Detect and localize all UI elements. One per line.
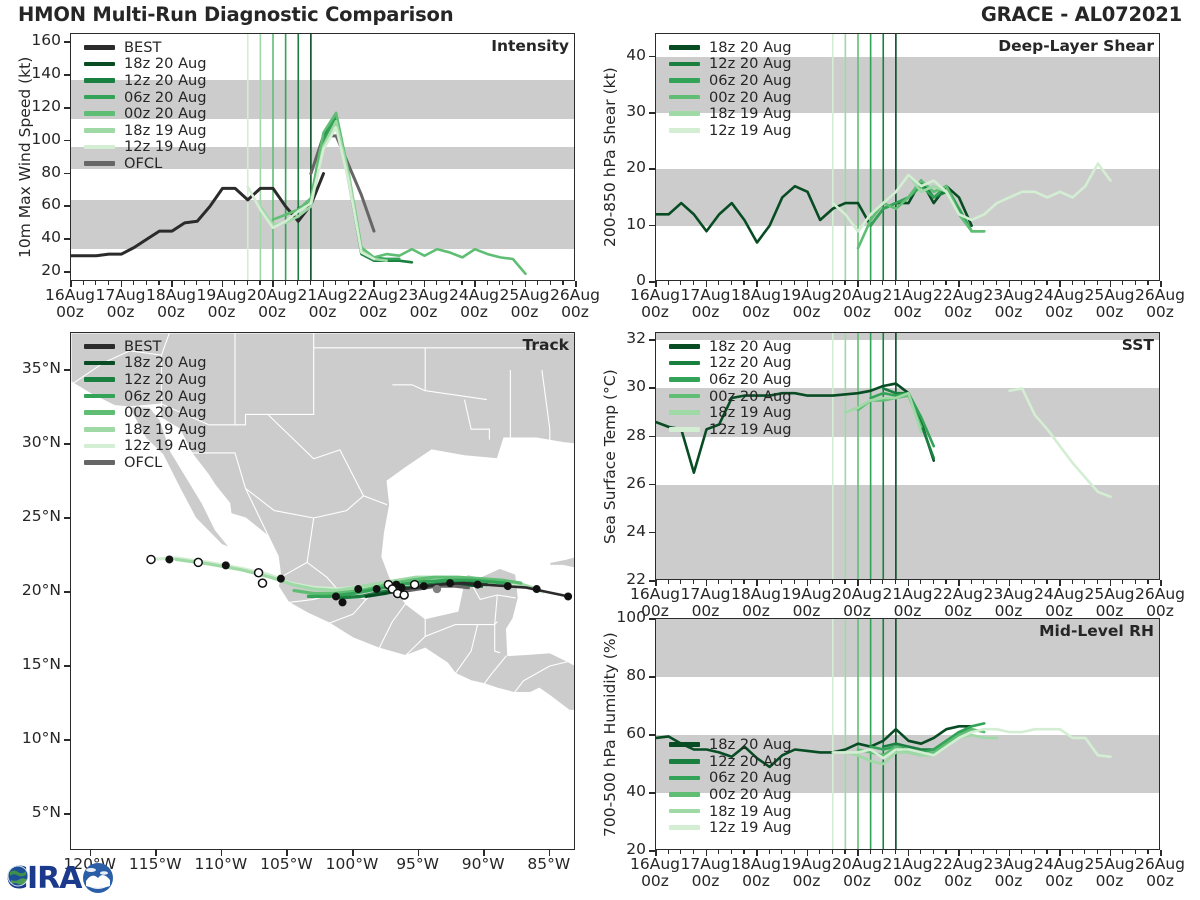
y-tick-mark: [649, 56, 655, 58]
x-tick-hour: 00z: [894, 872, 922, 890]
track-marker-open: [259, 579, 267, 587]
legend-label: BEST: [124, 39, 161, 56]
x-tick-hour: 00z: [894, 303, 922, 321]
legend-label: 00z 20 Aug: [709, 786, 792, 803]
x-tick-mark: [756, 850, 758, 856]
lat-tick-label: 5°N: [0, 803, 61, 821]
x-tick-day: 26Aug: [1135, 286, 1185, 304]
legend-label: 12z 20 Aug: [709, 354, 792, 371]
x-tick-hour: 00z: [157, 303, 185, 321]
legend-label: 18z 20 Aug: [124, 55, 207, 72]
x-tick-mark: [958, 580, 960, 586]
x-minor-tick: [731, 281, 732, 285]
y-tick-mark: [649, 618, 655, 620]
legend-color-swatch: [669, 809, 700, 814]
legend-item[interactable]: 12z 19 Aug: [669, 122, 792, 139]
track-marker-filled: [373, 585, 381, 593]
lat-tick-mark: [64, 517, 70, 519]
x-minor-tick: [895, 580, 896, 584]
x-minor-tick: [920, 281, 921, 285]
x-tick-hour: 00z: [107, 303, 135, 321]
legend-item[interactable]: 06z 20 Aug: [84, 388, 207, 405]
x-tick-mark: [272, 281, 274, 287]
x-tick-mark: [70, 281, 72, 287]
x-minor-tick: [360, 281, 361, 285]
x-minor-tick: [718, 580, 719, 584]
y-tick-mark: [649, 387, 655, 389]
x-tick-hour: 00z: [843, 303, 871, 321]
lat-tick-mark: [64, 739, 70, 741]
legend-color-swatch: [669, 410, 700, 415]
lat-tick-mark: [64, 665, 70, 667]
x-minor-tick: [743, 281, 744, 285]
x-minor-tick: [1034, 281, 1035, 285]
lon-tick-mark: [418, 850, 420, 856]
x-minor-tick: [562, 281, 563, 285]
y-tick-mark: [649, 225, 655, 227]
x-tick-mark: [575, 281, 577, 287]
x-minor-tick: [882, 850, 883, 854]
legend-color-swatch: [84, 410, 115, 415]
page-title-right: GRACE - AL072021: [981, 3, 1182, 26]
x-minor-tick: [996, 850, 997, 854]
x-minor-tick: [819, 281, 820, 285]
sst-legend: 18z 20 Aug12z 20 Aug06z 20 Aug00z 20 Aug…: [669, 338, 792, 438]
page-title-left: HMON Multi-Run Diagnostic Comparison: [18, 3, 453, 26]
legend-item[interactable]: 18z 20 Aug: [669, 736, 792, 753]
legend-item[interactable]: 12z 20 Aug: [84, 72, 207, 89]
y-tick-label: 20: [0, 261, 61, 279]
legend-label: 18z 20 Aug: [124, 354, 207, 371]
x-minor-tick: [882, 580, 883, 584]
x-tick-hour: 00z: [460, 303, 488, 321]
shear-y-axis-label: 200-850 hPa Shear (kt): [601, 67, 619, 247]
x-tick-mark: [807, 850, 809, 856]
legend-label: BEST: [124, 338, 161, 355]
x-minor-tick: [870, 580, 871, 584]
x-tick-mark: [706, 850, 708, 856]
x-minor-tick: [945, 580, 946, 584]
x-minor-tick: [971, 850, 972, 854]
x-tick-mark: [706, 281, 708, 287]
x-tick-mark: [807, 281, 809, 287]
lat-tick-mark: [64, 813, 70, 815]
x-minor-tick: [794, 580, 795, 584]
legend-label: 06z 20 Aug: [124, 388, 207, 405]
x-minor-tick: [920, 850, 921, 854]
lon-tick-mark: [483, 850, 485, 856]
track-marker-filled: [222, 561, 230, 569]
x-minor-tick: [158, 281, 159, 285]
legend-label: 06z 20 Aug: [709, 72, 792, 89]
legend-color-swatch: [84, 45, 115, 50]
legend-item[interactable]: 12z 20 Aug: [669, 56, 792, 73]
lon-tick-mark: [352, 850, 354, 856]
y-tick-mark: [649, 792, 655, 794]
x-minor-tick: [844, 850, 845, 854]
x-minor-tick: [794, 281, 795, 285]
x-tick-hour: 00z: [692, 872, 720, 890]
x-minor-tick: [386, 281, 387, 285]
panel-intensity: Intensity 20406080100120140160 16Aug00z1…: [70, 33, 575, 281]
x-tick-hour: 00z: [1096, 303, 1124, 321]
y-tick-mark: [649, 112, 655, 114]
x-minor-tick: [259, 281, 260, 285]
track-title: Track: [523, 336, 569, 354]
y-tick-mark: [64, 173, 70, 175]
x-minor-tick: [1135, 850, 1136, 854]
legend-color-swatch: [669, 45, 700, 50]
track-marker-filled: [420, 582, 428, 590]
x-minor-tick: [945, 850, 946, 854]
x-minor-tick: [769, 580, 770, 584]
legend-item[interactable]: 18z 19 Aug: [669, 105, 792, 122]
x-minor-tick: [1034, 850, 1035, 854]
legend-item[interactable]: 00z 20 Aug: [84, 404, 207, 421]
x-tick-mark: [857, 850, 859, 856]
x-tick-hour: 00z: [742, 872, 770, 890]
x-tick-label: 26Aug00z: [539, 287, 611, 322]
x-tick-hour: 00z: [944, 872, 972, 890]
x-minor-tick: [668, 281, 669, 285]
x-tick-mark: [1160, 281, 1162, 287]
legend-item[interactable]: 06z 20 Aug: [669, 371, 792, 388]
legend-item[interactable]: 00z 20 Aug: [669, 89, 792, 106]
shear-legend: 18z 20 Aug12z 20 Aug06z 20 Aug00z 20 Aug…: [669, 39, 792, 139]
y-tick-mark: [649, 532, 655, 534]
y-tick-mark: [64, 74, 70, 76]
legend-color-swatch: [669, 361, 700, 366]
x-tick-hour: 00z: [56, 303, 84, 321]
lon-tick-mark: [155, 850, 157, 856]
x-minor-tick: [550, 281, 551, 285]
track-marker-filled: [165, 555, 173, 563]
x-minor-tick: [983, 281, 984, 285]
legend-color-swatch: [84, 427, 115, 432]
legend-label: OFCL: [124, 454, 162, 471]
lon-tick-mark: [549, 850, 551, 856]
y-tick-mark: [649, 339, 655, 341]
x-tick-mark: [323, 281, 325, 287]
x-tick-mark: [908, 580, 910, 586]
x-tick-mark: [171, 281, 173, 287]
x-minor-tick: [933, 281, 934, 285]
x-tick-hour: 00z: [995, 872, 1023, 890]
legend-item[interactable]: 12z 19 Aug: [669, 819, 792, 836]
x-minor-tick: [933, 580, 934, 584]
x-minor-tick: [1034, 580, 1035, 584]
legend-color-swatch: [84, 377, 115, 382]
x-minor-tick: [83, 281, 84, 285]
x-minor-tick: [209, 281, 210, 285]
legend-label: 12z 19 Aug: [709, 819, 792, 836]
legend-item[interactable]: 00z 20 Aug: [84, 105, 207, 122]
track-legend: BEST18z 20 Aug12z 20 Aug06z 20 Aug00z 20…: [84, 338, 207, 471]
x-tick-hour: 00z: [561, 303, 589, 321]
legend-label: 18z 19 Aug: [709, 404, 792, 421]
rh-title: Mid-Level RH: [1039, 622, 1154, 640]
x-tick-hour: 00z: [641, 872, 669, 890]
x-tick-hour: 00z: [1146, 872, 1174, 890]
x-minor-tick: [680, 580, 681, 584]
legend-item[interactable]: 18z 19 Aug: [84, 421, 207, 438]
x-tick-mark: [857, 281, 859, 287]
legend-color-swatch: [84, 344, 115, 349]
x-tick-mark: [525, 281, 527, 287]
legend-color-swatch: [669, 394, 700, 399]
x-minor-tick: [718, 850, 719, 854]
legend-color-swatch: [84, 394, 115, 399]
x-minor-tick: [870, 850, 871, 854]
x-minor-tick: [895, 850, 896, 854]
legend-color-swatch: [669, 78, 700, 83]
legend-label: 18z 19 Aug: [709, 105, 792, 122]
x-tick-mark: [222, 281, 224, 287]
x-minor-tick: [1046, 281, 1047, 285]
legend-color-swatch: [84, 145, 115, 150]
x-minor-tick: [996, 580, 997, 584]
legend-label: 00z 20 Aug: [709, 388, 792, 405]
x-minor-tick: [680, 850, 681, 854]
x-tick-hour: 00z: [843, 872, 871, 890]
track-marker-filled: [504, 582, 512, 590]
legend-item[interactable]: 12z 19 Aug: [84, 139, 207, 156]
x-tick-mark: [121, 281, 123, 287]
legend-color-swatch: [84, 95, 115, 100]
x-minor-tick: [794, 850, 795, 854]
x-minor-tick: [680, 281, 681, 285]
legend-item[interactable]: OFCL: [84, 454, 207, 471]
x-minor-tick: [819, 580, 820, 584]
legend-label: 12z 19 Aug: [124, 138, 207, 155]
x-minor-tick: [146, 281, 147, 285]
x-tick-mark: [756, 580, 758, 586]
legend-item[interactable]: 18z 20 Aug: [669, 39, 792, 56]
legend-item[interactable]: 12z 20 Aug: [669, 355, 792, 372]
legend-item[interactable]: BEST: [84, 338, 207, 355]
lat-tick-label: 35°N: [0, 359, 61, 377]
cuba-partial: [550, 557, 575, 569]
track-marker-filled: [332, 592, 340, 600]
x-minor-tick: [499, 281, 500, 285]
legend-label: 18z 19 Aug: [124, 421, 207, 438]
x-tick-mark: [958, 850, 960, 856]
x-minor-tick: [844, 580, 845, 584]
x-minor-tick: [819, 850, 820, 854]
y-tick-mark: [64, 238, 70, 240]
x-tick-hour: 00z: [359, 303, 387, 321]
x-minor-tick: [1021, 580, 1022, 584]
x-minor-tick: [1084, 580, 1085, 584]
legend-color-swatch: [669, 377, 700, 382]
x-minor-tick: [461, 281, 462, 285]
x-tick-hour: 00z: [1045, 872, 1073, 890]
x-minor-tick: [310, 281, 311, 285]
legend-item[interactable]: 12z 20 Aug: [84, 371, 207, 388]
track-marker-filled: [533, 585, 541, 593]
x-tick-hour: 00z: [944, 303, 972, 321]
figure-root: HMON Multi-Run Diagnostic Comparison GRA…: [0, 0, 1200, 900]
x-tick-mark: [655, 281, 657, 287]
x-minor-tick: [895, 281, 896, 285]
x-tick-hour: 00z: [793, 872, 821, 890]
intensity-title: Intensity: [491, 37, 569, 55]
x-minor-tick: [512, 281, 513, 285]
x-minor-tick: [487, 281, 488, 285]
legend-color-swatch: [669, 825, 700, 830]
legend-label: 18z 20 Aug: [709, 39, 792, 56]
y-tick-mark: [64, 41, 70, 43]
x-minor-tick: [933, 850, 934, 854]
x-tick-hour: 00z: [692, 303, 720, 321]
x-tick-mark: [1110, 580, 1112, 586]
x-tick-hour: 00z: [1146, 303, 1174, 321]
x-minor-tick: [184, 281, 185, 285]
track-marker-filled: [354, 585, 362, 593]
legend-label: 12z 20 Aug: [124, 371, 207, 388]
lat-tick-label: 30°N: [0, 433, 61, 451]
legend-item[interactable]: 18z 20 Aug: [84, 56, 207, 73]
legend-color-swatch: [669, 427, 700, 432]
rh-y-axis-label: 700-500 hPa Humidity (%): [601, 632, 619, 837]
y-tick-mark: [64, 107, 70, 109]
lat-tick-label: 20°N: [0, 581, 61, 599]
legend-color-swatch: [669, 344, 700, 349]
x-minor-tick: [718, 281, 719, 285]
legend-item[interactable]: 18z 20 Aug: [84, 355, 207, 372]
legend-item[interactable]: 18z 20 Aug: [669, 338, 792, 355]
legend-item[interactable]: 12z 20 Aug: [669, 753, 792, 770]
x-minor-tick: [693, 850, 694, 854]
legend-item[interactable]: OFCL: [84, 155, 207, 172]
track-marker-open: [400, 591, 408, 599]
y-tick-mark: [649, 168, 655, 170]
x-tick-mark: [1009, 281, 1011, 287]
x-tick-label: 26Aug00z: [1124, 287, 1196, 322]
x-minor-tick: [971, 281, 972, 285]
x-minor-tick: [1135, 281, 1136, 285]
legend-label: 12z 19 Aug: [124, 437, 207, 454]
legend-item[interactable]: 18z 19 Aug: [669, 404, 792, 421]
panel-track-map: Track 5°N10°N15°N20°N25°N30°N35°N 120°W1…: [70, 332, 575, 850]
x-tick-mark: [756, 281, 758, 287]
x-tick-hour: 00z: [258, 303, 286, 321]
x-minor-tick: [668, 580, 669, 584]
x-minor-tick: [983, 850, 984, 854]
legend-item[interactable]: 12z 19 Aug: [669, 421, 792, 438]
x-minor-tick: [781, 580, 782, 584]
x-minor-tick: [1122, 580, 1123, 584]
track-marker-ofcl: [433, 585, 441, 593]
x-minor-tick: [1046, 850, 1047, 854]
panel-sst: SST 222426283032 16Aug00z17Aug00z18Aug00…: [655, 332, 1160, 580]
track-marker-filled: [474, 581, 482, 589]
x-minor-tick: [1147, 281, 1148, 285]
x-tick-mark: [1059, 580, 1061, 586]
legend-item[interactable]: 06z 20 Aug: [669, 770, 792, 787]
track-marker-open: [411, 581, 419, 589]
y-tick-mark: [649, 676, 655, 678]
legend-item[interactable]: 06z 20 Aug: [84, 89, 207, 106]
x-tick-mark: [908, 850, 910, 856]
x-minor-tick: [234, 281, 235, 285]
legend-item[interactable]: 12z 19 Aug: [84, 438, 207, 455]
x-minor-tick: [1097, 850, 1098, 854]
lon-tick-mark: [221, 850, 223, 856]
x-tick-mark: [373, 281, 375, 287]
sst-y-axis-label: Sea Surface Temp (°C): [601, 369, 619, 544]
legend-item[interactable]: 06z 20 Aug: [669, 72, 792, 89]
x-minor-tick: [1021, 281, 1022, 285]
x-tick-mark: [958, 281, 960, 287]
legend-label: 18z 20 Aug: [709, 338, 792, 355]
x-minor-tick: [743, 580, 744, 584]
x-minor-tick: [335, 281, 336, 285]
legend-label: 18z 19 Aug: [709, 803, 792, 820]
legend-color-swatch: [669, 742, 700, 747]
x-tick-hour: 00z: [1096, 872, 1124, 890]
x-tick-mark: [655, 580, 657, 586]
x-minor-tick: [537, 281, 538, 285]
x-minor-tick: [1147, 580, 1148, 584]
x-tick-mark: [706, 580, 708, 586]
lat-tick-label: 15°N: [0, 655, 61, 673]
x-minor-tick: [1097, 580, 1098, 584]
legend-label: 12z 19 Aug: [709, 122, 792, 139]
legend-item[interactable]: BEST: [84, 39, 207, 56]
x-minor-tick: [693, 281, 694, 285]
x-tick-mark: [1160, 580, 1162, 586]
rh-legend: 18z 20 Aug12z 20 Aug06z 20 Aug00z 20 Aug…: [669, 736, 792, 836]
x-minor-tick: [1122, 850, 1123, 854]
x-minor-tick: [1072, 580, 1073, 584]
x-minor-tick: [870, 281, 871, 285]
y-tick-label: 160: [0, 31, 61, 49]
x-minor-tick: [996, 281, 997, 285]
x-minor-tick: [1097, 281, 1098, 285]
x-tick-mark: [1009, 850, 1011, 856]
track-marker-filled: [446, 579, 454, 587]
x-tick-hour: 00z: [511, 303, 539, 321]
x-tick-mark: [474, 281, 476, 287]
track-marker-open: [147, 555, 155, 563]
track-marker-filled: [339, 598, 347, 606]
legend-label: 06z 20 Aug: [124, 89, 207, 106]
y-tick-label: 40: [582, 46, 646, 64]
track-marker-open: [194, 558, 202, 566]
legend-label: 18z 20 Aug: [709, 736, 792, 753]
legend-color-swatch: [669, 759, 700, 764]
x-tick-mark: [1059, 850, 1061, 856]
lat-tick-mark: [64, 443, 70, 445]
legend-label: 00z 20 Aug: [124, 404, 207, 421]
legend-color-swatch: [84, 361, 115, 366]
y-tick-mark: [64, 205, 70, 207]
legend-item[interactable]: 00z 20 Aug: [669, 786, 792, 803]
x-tick-label: 26Aug00z: [1124, 856, 1196, 891]
legend-item[interactable]: 18z 19 Aug: [84, 122, 207, 139]
legend-color-swatch: [669, 776, 700, 781]
x-minor-tick: [436, 281, 437, 285]
x-minor-tick: [668, 850, 669, 854]
cira-logo: CIRA: [4, 855, 116, 897]
legend-item[interactable]: 18z 19 Aug: [669, 803, 792, 820]
lon-tick-label: 85°W: [509, 856, 589, 873]
legend-item[interactable]: 00z 20 Aug: [669, 388, 792, 405]
legend-label: 00z 20 Aug: [709, 89, 792, 106]
x-minor-tick: [95, 281, 96, 285]
x-tick-mark: [908, 281, 910, 287]
